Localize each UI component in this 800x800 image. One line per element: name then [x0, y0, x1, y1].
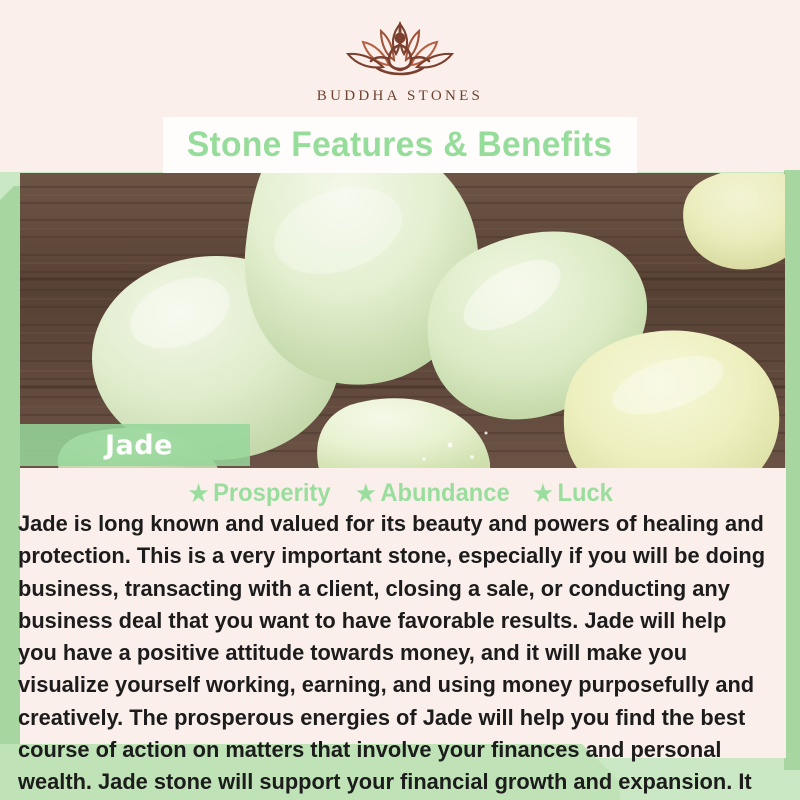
keyword-label: Prosperity: [214, 479, 331, 508]
stone-name-label: Jade: [105, 430, 173, 461]
stone-description: Jade is long known and valued for its be…: [18, 508, 767, 800]
keyword-item-0: ★ Prosperity: [189, 479, 331, 508]
brand-header: BUDDHA STONES: [0, 14, 800, 118]
brand-name: BUDDHA STONES: [317, 88, 483, 105]
star-icon: ★: [356, 482, 376, 505]
keyword-label: Abundance: [380, 479, 509, 508]
stone-name-badge: Jade: [20, 424, 250, 466]
keyword-label: Luck: [557, 479, 612, 508]
title-banner: Stone Features & Benefits: [163, 117, 637, 173]
green-right-accent-bar: [784, 170, 800, 770]
lotus-meditation-figure-icon: [315, 14, 485, 86]
infographic-card: BUDDHA STONES Stone Features & Benefits: [0, 0, 800, 800]
page-title: Stone Features & Benefits: [187, 125, 612, 165]
keyword-item-2: ★ Luck: [533, 479, 613, 508]
keyword-item-1: ★ Abundance: [356, 479, 510, 508]
keyword-row: ★ Prosperity ★ Abundance ★ Luck: [0, 478, 800, 508]
star-icon: ★: [189, 482, 209, 505]
star-icon: ★: [533, 482, 553, 505]
